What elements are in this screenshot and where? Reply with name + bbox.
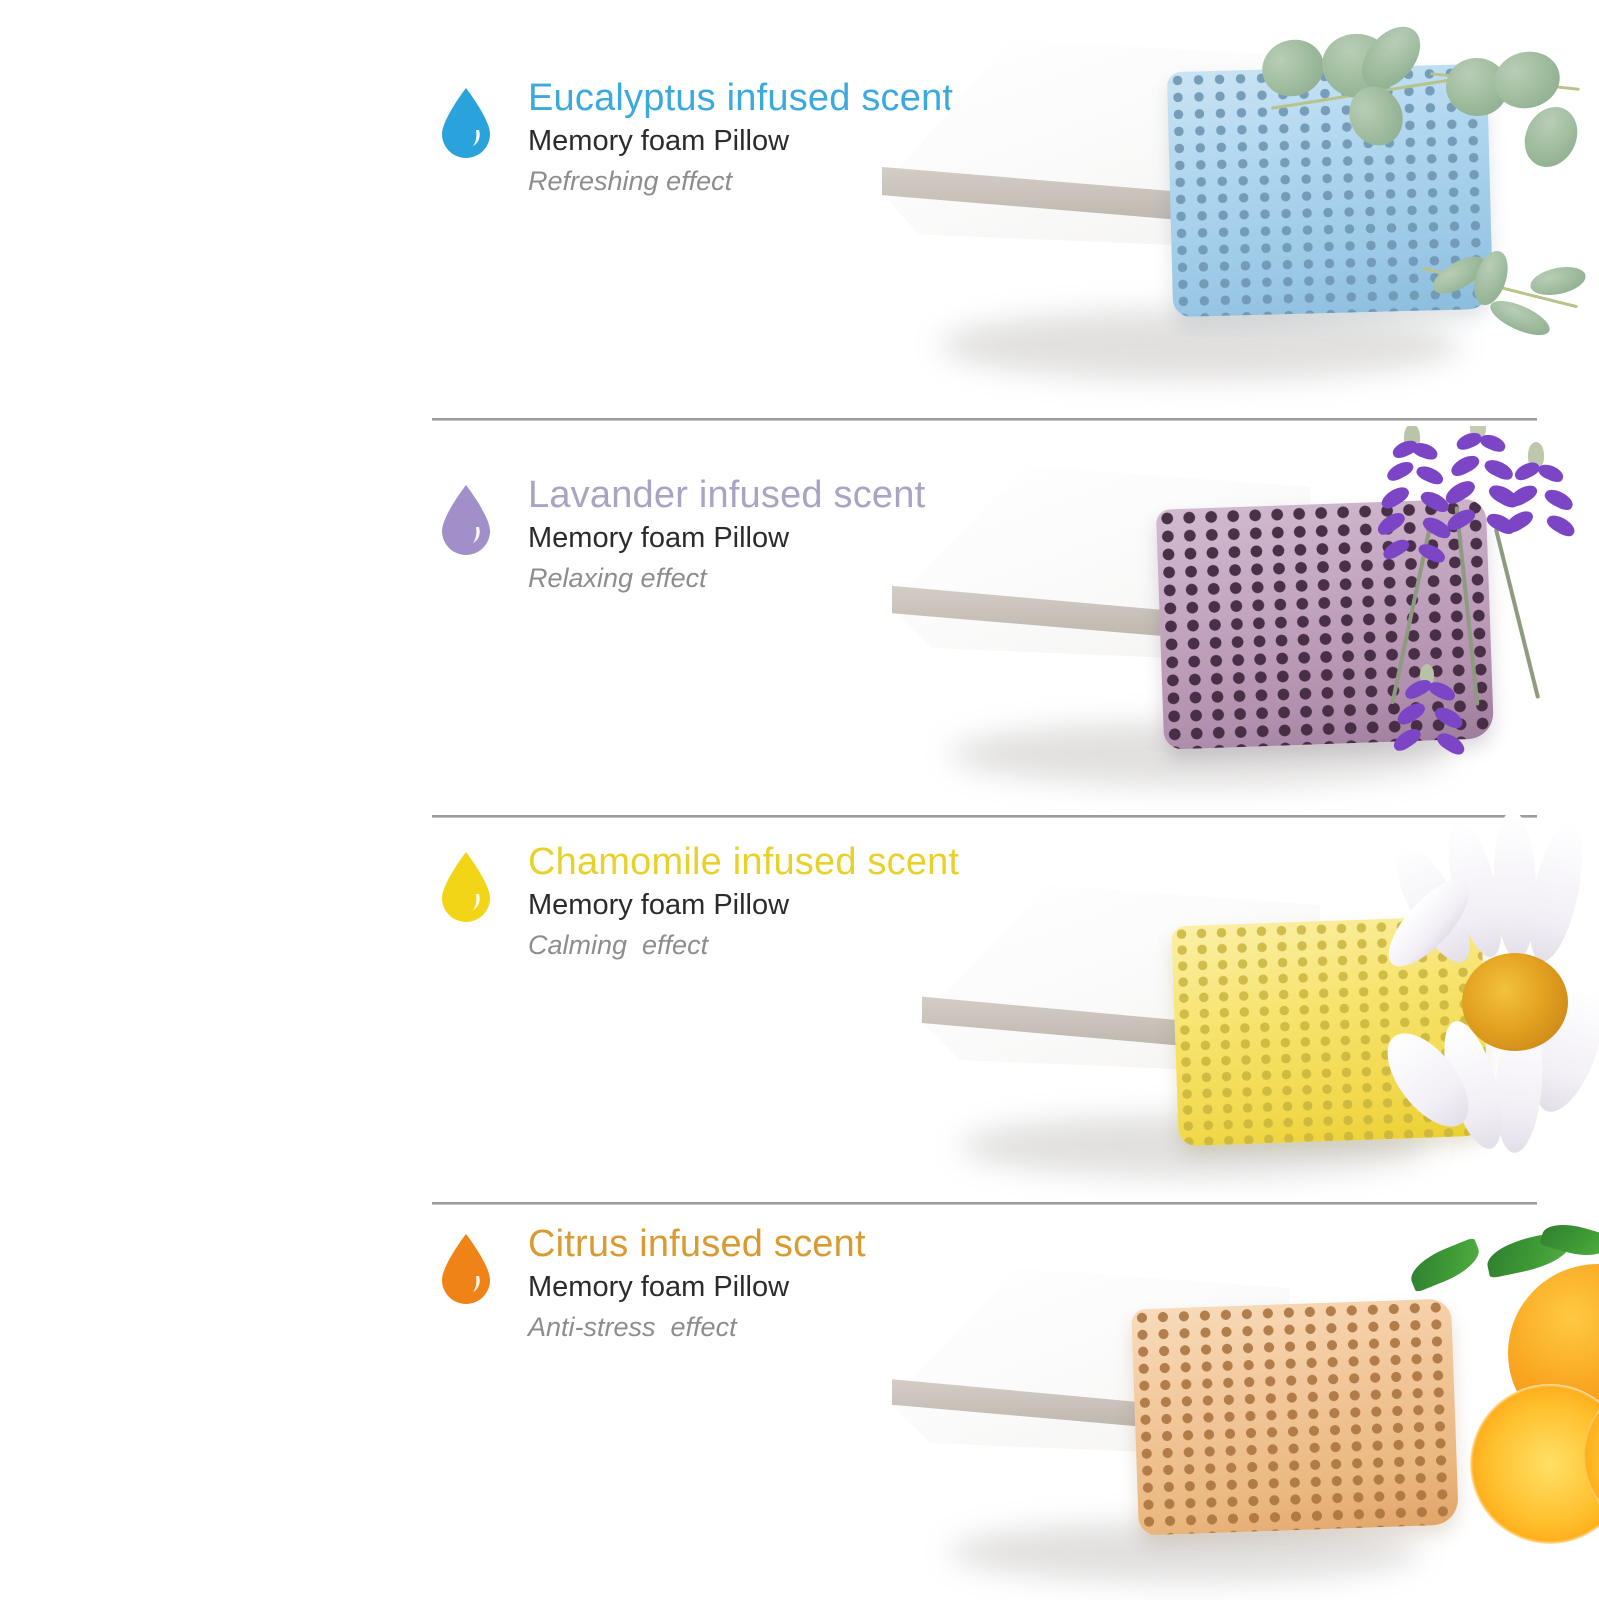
water-drop-icon bbox=[438, 1232, 494, 1306]
pillow-image-eucalyptus bbox=[860, 10, 1599, 410]
eucalyptus-leaf bbox=[1255, 32, 1331, 104]
orange-slice bbox=[1470, 1384, 1599, 1544]
eucalyptus-leaf bbox=[1486, 294, 1554, 342]
eucalyptus-branch bbox=[1240, 10, 1599, 410]
pillow-image-chamomile bbox=[860, 815, 1599, 1200]
scent-section-citrus: Citrus infused scent Memory foam Pillow … bbox=[0, 1202, 1599, 1600]
scent-section-lavander: Lavander infused scent Memory foam Pillo… bbox=[0, 418, 1599, 815]
infographic-sheet: Eucalyptus infused scent Memory foam Pil… bbox=[0, 0, 1599, 1600]
scent-section-chamomile: Chamomile infused scent Memory foam Pill… bbox=[0, 815, 1599, 1202]
pillow-image-lavander bbox=[860, 426, 1599, 811]
lavender-spike bbox=[1502, 442, 1582, 602]
scent-section-eucalyptus: Eucalyptus infused scent Memory foam Pil… bbox=[0, 0, 1599, 418]
orange-leaf bbox=[1405, 1237, 1485, 1293]
water-drop-icon bbox=[438, 850, 494, 924]
eucalyptus-leaf bbox=[1528, 262, 1588, 299]
section-divider bbox=[432, 418, 1537, 421]
water-drop-icon bbox=[438, 86, 494, 160]
daisy-center bbox=[1462, 953, 1568, 1051]
pillow-image-citrus bbox=[860, 1212, 1599, 1600]
daisy-flower bbox=[1330, 815, 1599, 1200]
lavender-sprigs bbox=[1290, 426, 1599, 811]
water-drop-icon bbox=[438, 483, 494, 557]
lavender-spike bbox=[1386, 664, 1476, 794]
orange-fruits bbox=[1290, 1212, 1599, 1600]
section-divider bbox=[432, 1202, 1537, 1205]
eucalyptus-leaf bbox=[1515, 98, 1587, 176]
